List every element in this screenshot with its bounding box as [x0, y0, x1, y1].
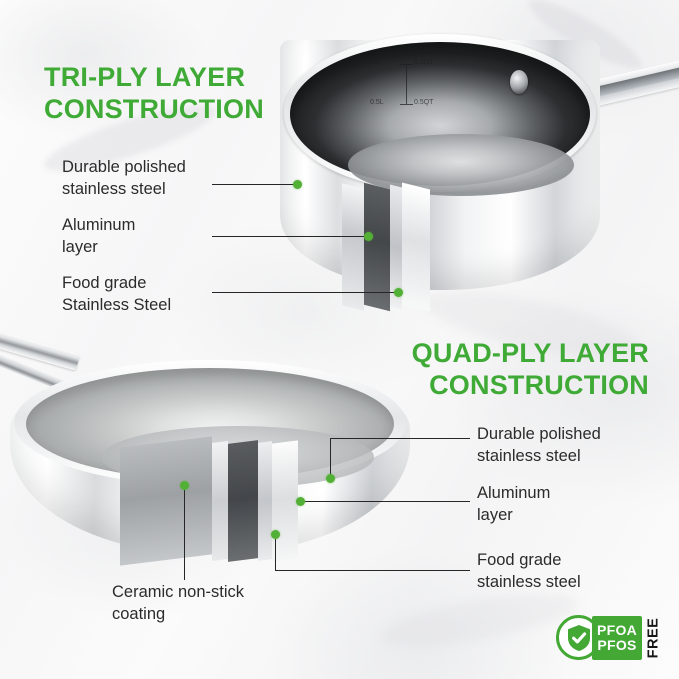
leader-line-top-2 [212, 236, 370, 237]
callout-aluminum-layer-top: Aluminum layer [62, 214, 222, 258]
fry-pan-cutaway [120, 442, 310, 560]
badge-free-label: FREE [642, 616, 664, 660]
layer-steel-1 [212, 441, 228, 561]
shield-check-icon [566, 624, 592, 652]
leader-dot-top-3 [394, 288, 403, 297]
pfoa-pfos-free-badge: PFOA PFOS FREE [556, 612, 668, 664]
marble-vein [378, 583, 582, 657]
leader-elbow-bottom-1 [330, 438, 331, 478]
callout-durable-polished-steel-top: Durable polished stainless steel [62, 156, 222, 200]
measure-bar [406, 64, 407, 104]
callout-durable-polished-steel-bottom: Durable polished stainless steel [477, 423, 657, 467]
badge-line-pfos: PFOS [597, 638, 636, 653]
measure-imperial-2: 0.5QT [414, 99, 433, 106]
layer-steel-2 [258, 441, 272, 561]
badge-line-pfoa: PFOA [597, 623, 637, 638]
callout-aluminum-layer-bottom: Aluminum layer [477, 482, 647, 526]
measure-metric-1: 1.0 [370, 59, 380, 66]
leader-line-bottom-1 [330, 438, 470, 439]
leader-line-top-1 [212, 184, 298, 185]
layer-aluminum-quad [228, 440, 258, 562]
callout-food-grade-steel-bottom: Food grade stainless steel [477, 549, 657, 593]
leader-elbow-bottom-3 [275, 534, 276, 571]
measure-tick-upper [400, 64, 413, 65]
leader-dot-bottom-3 [271, 530, 280, 539]
badge-free-text: FREE [645, 618, 661, 659]
layer-ceramic-coating [120, 436, 212, 565]
leader-dot-ceramic [180, 481, 189, 490]
leader-dot-top-2 [364, 232, 373, 241]
heading-quad-ply: QUAD-PLY LAYER CONSTRUCTION [319, 338, 649, 402]
callout-ceramic-nonstick-coating: Ceramic non-stick coating [112, 581, 302, 625]
measure-metric-2: 0.5L [370, 99, 384, 106]
interior-rivet [510, 70, 528, 94]
saucepan-cutaway [342, 186, 430, 308]
heading-tri-ply: TRI-PLY LAYER CONSTRUCTION [44, 62, 344, 126]
measure-tick-lower [400, 104, 413, 105]
leader-dot-bottom-1 [326, 474, 335, 483]
infographic-canvas: 1.0 1.0QT 0.5L 0.5QT TRI-PLY LAYER CONST… [0, 0, 679, 679]
leader-line-ceramic [184, 487, 185, 580]
leader-dot-bottom-2 [296, 497, 305, 506]
layer-cut-face [402, 183, 430, 312]
measurement-markings: 1.0 1.0QT 0.5L 0.5QT [370, 58, 466, 110]
leader-dot-top-1 [293, 180, 302, 189]
badge-text-box: PFOA PFOS [592, 616, 642, 660]
measure-imperial-1: 1.0QT [414, 59, 433, 66]
leader-line-bottom-2 [300, 501, 470, 502]
leader-line-bottom-3 [275, 570, 470, 571]
callout-food-grade-steel-top: Food grade Stainless Steel [62, 272, 232, 316]
leader-line-top-3 [212, 292, 400, 293]
handle-groove [590, 65, 679, 98]
